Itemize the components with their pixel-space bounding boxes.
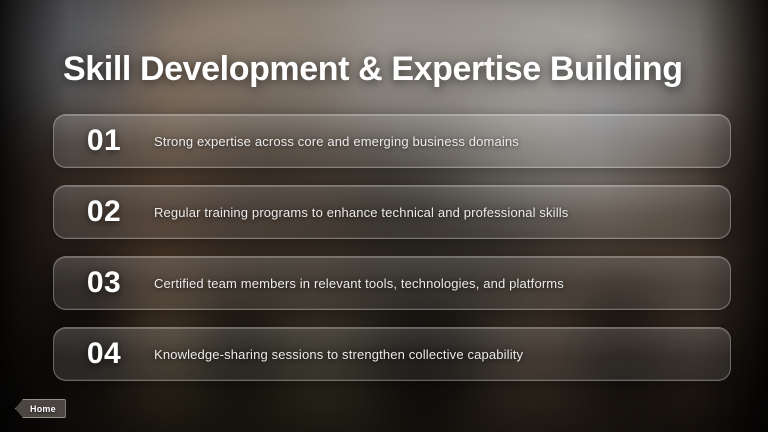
bullet-card-02[interactable]: 02 Regular training programs to enhance …: [53, 185, 731, 239]
home-button[interactable]: Home: [15, 399, 66, 418]
home-button-label: Home: [30, 404, 56, 414]
card-number: 02: [54, 195, 154, 229]
card-text: Regular training programs to enhance tec…: [154, 205, 568, 220]
presentation-slide: Skill Development & Expertise Building 0…: [0, 0, 768, 432]
card-number: 01: [54, 124, 154, 158]
card-text: Knowledge-sharing sessions to strengthen…: [154, 347, 523, 362]
card-number: 03: [54, 266, 154, 300]
card-text: Strong expertise across core and emergin…: [154, 134, 519, 149]
slide-title: Skill Development & Expertise Building: [63, 50, 683, 89]
card-number: 04: [54, 337, 154, 371]
bullet-card-01[interactable]: 01 Strong expertise across core and emer…: [53, 114, 731, 168]
bullet-card-04[interactable]: 04 Knowledge-sharing sessions to strengt…: [53, 327, 731, 381]
bullet-card-list: 01 Strong expertise across core and emer…: [53, 114, 731, 398]
card-text: Certified team members in relevant tools…: [154, 276, 564, 291]
bullet-card-03[interactable]: 03 Certified team members in relevant to…: [53, 256, 731, 310]
